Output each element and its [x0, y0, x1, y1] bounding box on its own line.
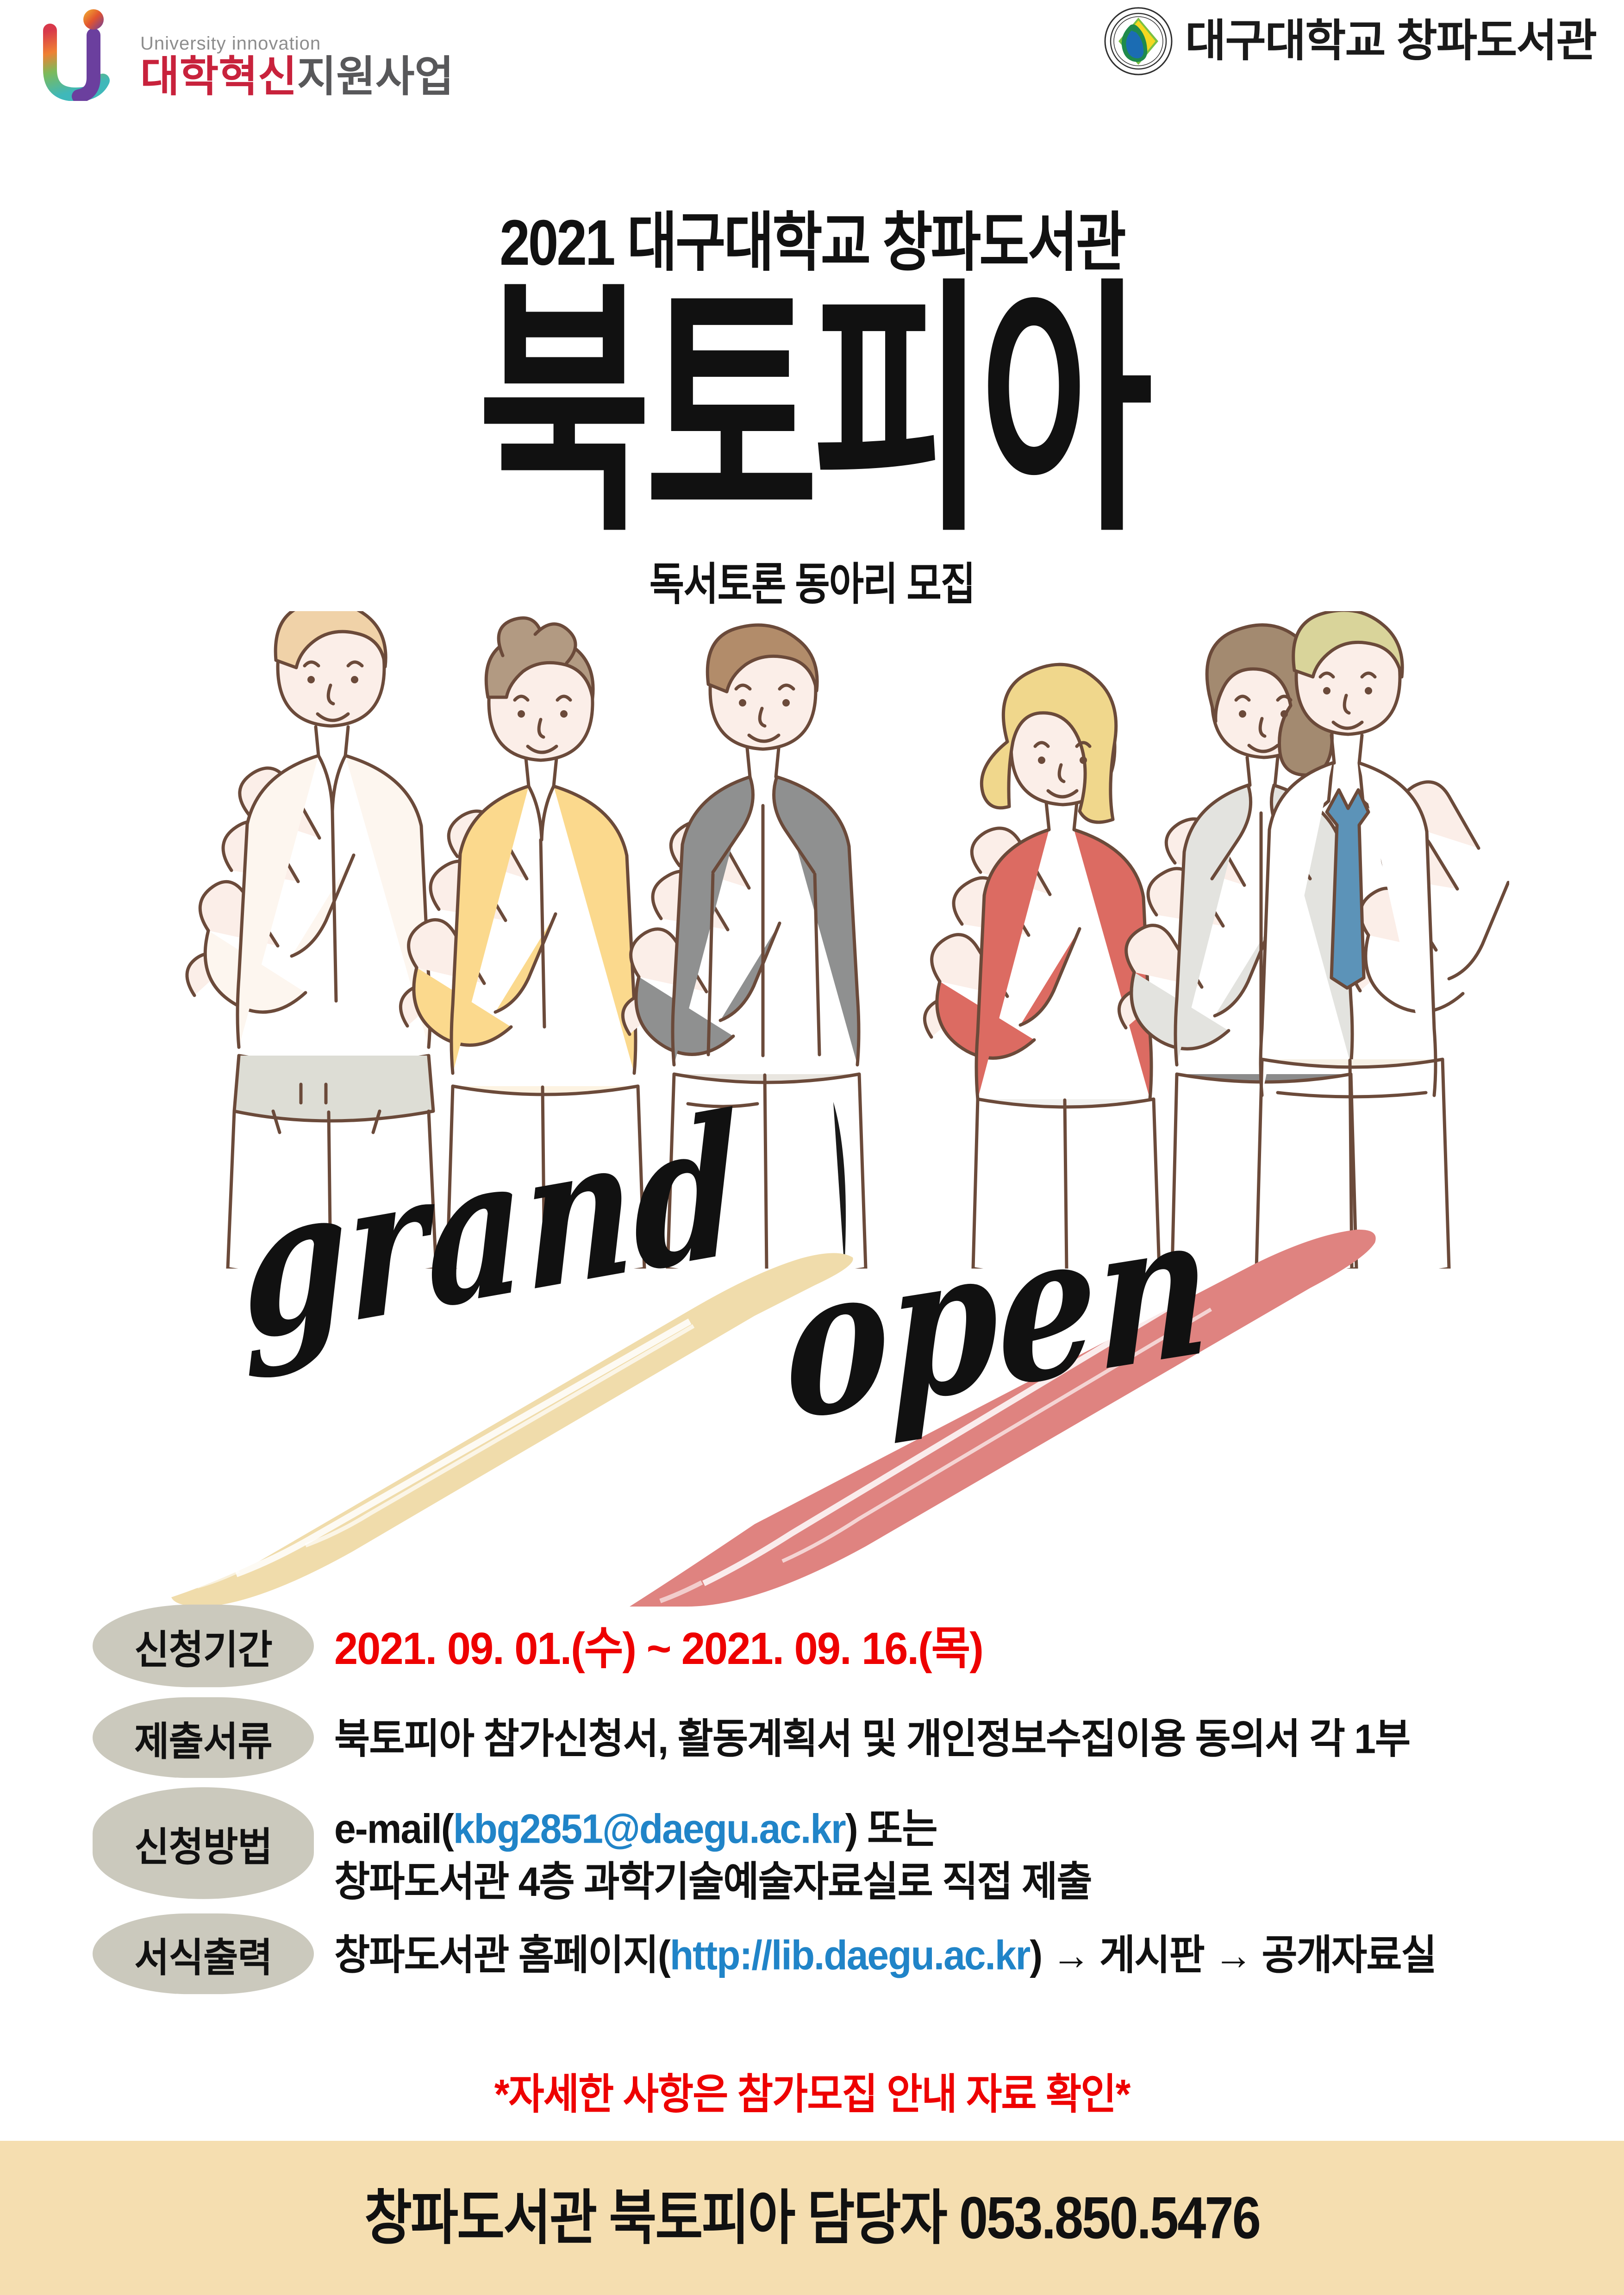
- info-row-application-method: 신청방법 e-mail(kbg2851@daegu.ac.kr) 또는 창파도서…: [93, 1790, 1550, 1901]
- info-row-required-documents: 제출서류 북토피아 참가신청서, 활동계획서 및 개인정보수집이용 동의서 각 …: [93, 1699, 1550, 1776]
- application-method-line1: e-mail(kbg2851@daegu.ac.kr) 또는: [334, 1803, 1092, 1856]
- email-suffix: ) 또는: [845, 1806, 937, 1852]
- daegu-university-library-logo: 대구대학교 창파도서관: [1104, 6, 1596, 76]
- value-form-download: 창파도서관 홈페이지(http://lib.daegu.ac.kr) → 게시판…: [334, 1915, 1436, 1982]
- ui-logo-mark-icon: [42, 8, 132, 101]
- value-application-period: 2021. 09. 01.(수) ~ 2021. 09. 16.(목): [334, 1607, 983, 1679]
- poster-tagline: 독서토론 동아리 모집: [0, 563, 1624, 607]
- poster-canvas: University innovation 대학혁신지원사업 대구대학교 창파도…: [0, 0, 1624, 2295]
- ui-logo-korean-gray: 지원사업: [297, 53, 454, 100]
- pill-required-documents: 제출서류: [93, 1697, 314, 1778]
- email-link[interactable]: kbg2851@daegu.ac.kr: [453, 1806, 845, 1852]
- ui-logo-english: University innovation: [140, 34, 454, 53]
- value-application-method: e-mail(kbg2851@daegu.ac.kr) 또는 창파도서관 4층 …: [334, 1790, 1092, 1908]
- pill-application-method: 신청방법: [93, 1787, 314, 1899]
- info-table: 신청기간 2021. 09. 01.(수) ~ 2021. 09. 16.(목)…: [93, 1607, 1550, 2006]
- ui-logo-korean: 대학혁신지원사업: [140, 56, 454, 98]
- university-seal-icon: [1104, 6, 1173, 76]
- pill-form-download: 서식출력: [93, 1914, 314, 1994]
- homepage-prefix: 창파도서관 홈페이지(: [334, 1932, 670, 1978]
- footer-contact-text: 창파도서관 북토피아 담당자 053.850.5476: [364, 2189, 1260, 2248]
- detail-notice: *자세한 사항은 참가모집 안내 자료 확인*: [0, 2073, 1624, 2115]
- email-prefix: e-mail(: [334, 1806, 453, 1852]
- open-brush-word: open: [784, 1183, 1212, 1449]
- pill-application-period: 신청기간: [93, 1605, 314, 1688]
- homepage-link[interactable]: http://lib.daegu.ac.kr: [670, 1932, 1030, 1978]
- university-innovation-logo: University innovation 대학혁신지원사업: [42, 8, 454, 101]
- footer-contact-bar: 창파도서관 북토피아 담당자 053.850.5476: [0, 2141, 1624, 2295]
- homepage-suffix: ) → 게시판 → 공개자료실: [1030, 1932, 1436, 1978]
- ui-logo-korean-red: 대학혁신: [140, 53, 297, 100]
- poster-headline: 북토피아: [0, 278, 1624, 546]
- ui-logo-wordmark: University innovation 대학혁신지원사업: [140, 34, 454, 101]
- library-name: 대구대학교 창파도서관: [1185, 19, 1596, 63]
- info-row-application-period: 신청기간 2021. 09. 01.(수) ~ 2021. 09. 16.(목): [93, 1607, 1550, 1685]
- application-method-line2: 창파도서관 4층 과학기술예술자료실로 직접 제출: [334, 1856, 1092, 1908]
- value-required-documents: 북토피아 참가신청서, 활동계획서 및 개인정보수집이용 동의서 각 1부: [334, 1699, 1410, 1766]
- info-row-form-download: 서식출력 창파도서관 홈페이지(http://lib.daegu.ac.kr) …: [93, 1915, 1550, 1992]
